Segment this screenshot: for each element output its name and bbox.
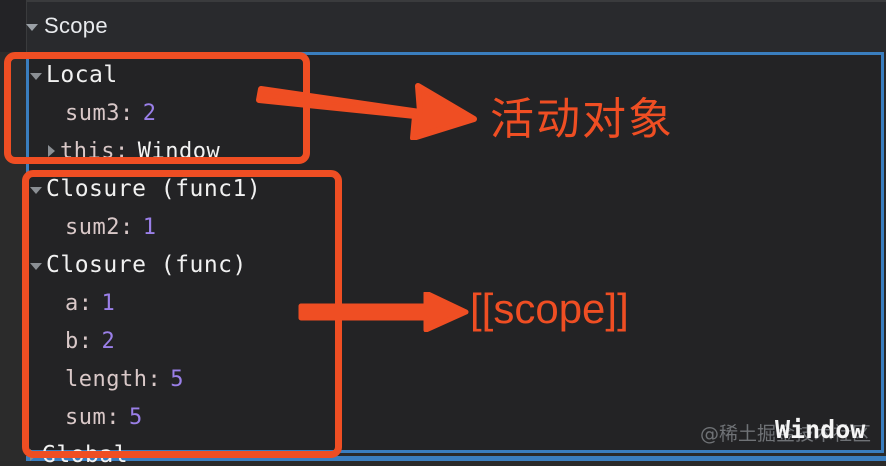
window-object-label: Window (775, 415, 865, 444)
triangle-down-icon[interactable] (30, 263, 42, 270)
property-value[interactable]: 1 (102, 291, 116, 316)
property-name: sum2: (65, 215, 134, 240)
tree-row-property[interactable]: length: 5 (30, 360, 730, 398)
tree-row-property[interactable]: sum: 5 (30, 398, 730, 436)
left-gutter-lower (0, 52, 26, 466)
triangle-down-icon[interactable] (26, 24, 38, 31)
scope-title: Global (42, 442, 128, 466)
tree-row-closure-func1[interactable]: Closure (func1) (30, 170, 730, 208)
scope-section-label: Scope (44, 13, 108, 39)
triangle-down-icon[interactable] (30, 73, 42, 80)
scope-title: Closure (func) (46, 252, 247, 278)
property-name: sum3: (65, 101, 134, 126)
property-value[interactable]: 2 (143, 101, 157, 126)
property-name: b: (65, 329, 93, 354)
tree-row-closure-func[interactable]: Closure (func) (30, 246, 730, 284)
property-name: sum: (65, 405, 120, 430)
annotation-active-object: 活动对象 (490, 83, 674, 147)
triangle-down-icon[interactable] (30, 187, 42, 194)
left-gutter-upper (0, 0, 27, 52)
property-value[interactable]: 2 (102, 329, 116, 354)
property-value[interactable]: 1 (143, 215, 157, 240)
property-value[interactable]: 5 (170, 367, 184, 392)
scope-title: Local (46, 62, 118, 88)
triangle-right-icon[interactable] (30, 449, 37, 461)
property-name: this: (60, 139, 129, 164)
tree-row-global-scope[interactable]: Global (30, 436, 730, 466)
property-name: length: (65, 367, 161, 392)
property-value[interactable]: 5 (129, 405, 143, 430)
annotation-scope-chain: [[scope]] (470, 285, 629, 333)
tree-row-property[interactable]: sum2: 1 (30, 208, 730, 246)
triangle-right-icon[interactable] (48, 145, 55, 157)
top-divider (0, 0, 886, 2)
scope-section-header[interactable]: Scope (26, 10, 108, 42)
devtools-scope-panel-screenshot: Scope Local sum3: 2 this: Window Closure… (0, 0, 886, 466)
panel-header-background (0, 0, 886, 52)
property-value[interactable]: Window (138, 139, 220, 164)
scope-title: Closure (func1) (46, 176, 261, 202)
property-name: a: (65, 291, 93, 316)
